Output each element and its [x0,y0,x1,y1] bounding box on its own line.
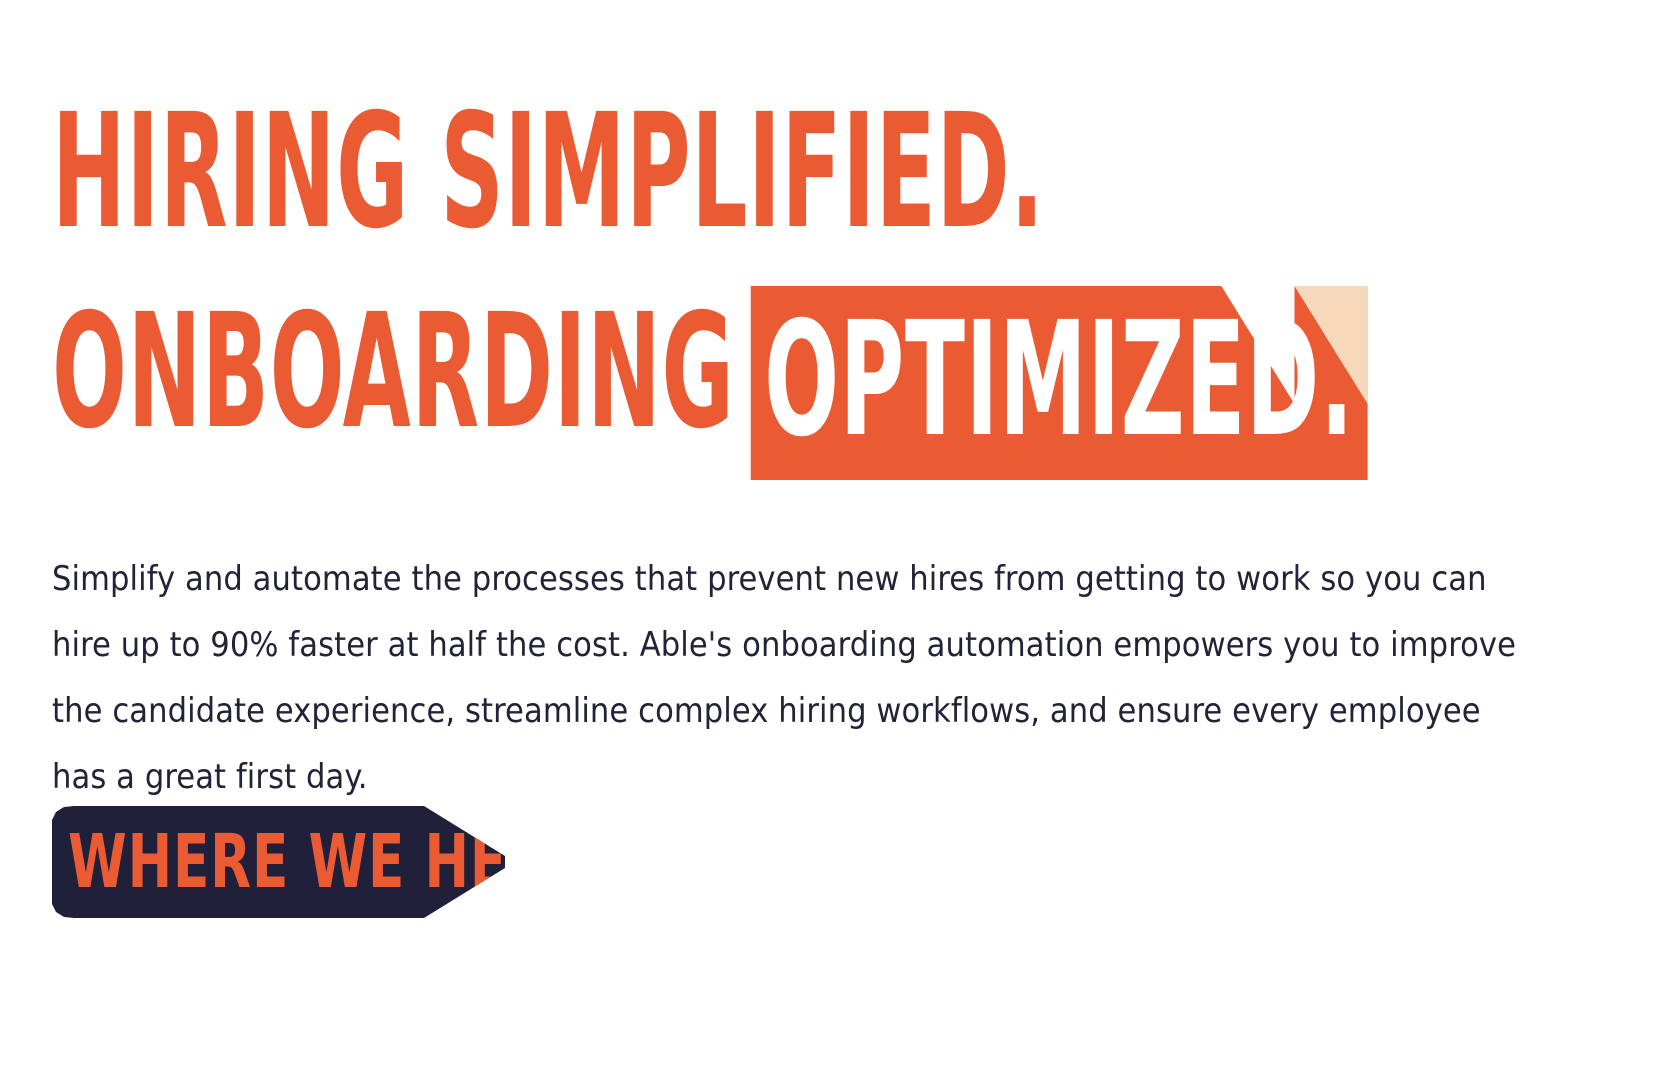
hero-section: Hiring Simplified. OnboardingOptimized. … [0,0,1668,1084]
where-we-help-button-label: Where We Help [68,823,582,901]
where-we-help-button[interactable]: Where We Help [52,806,505,918]
headline-plain-text: Onboarding [52,286,734,458]
hero-paragraph: Simplify and automate the processes that… [52,546,1522,810]
page-title: Hiring Simplified. OnboardingOptimized. [52,86,1552,480]
headline-highlight-optimized: Optimized. [751,286,1368,480]
headline-line-one: Hiring Simplified. [52,86,982,258]
headline-highlight-label: Optimized. [764,288,1354,472]
headline-line-two: OnboardingOptimized. [52,286,982,480]
